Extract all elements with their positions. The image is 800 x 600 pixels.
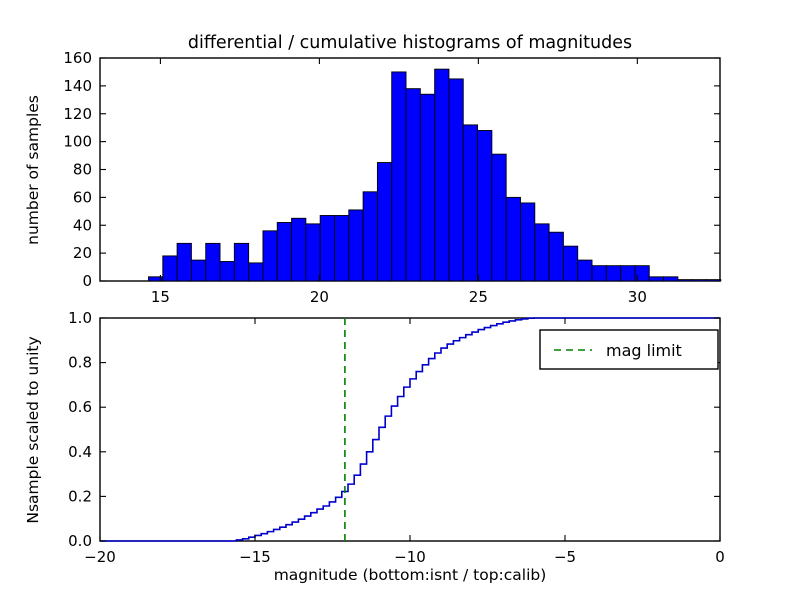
- histogram-bar: [492, 154, 506, 281]
- bottom-panel-y-axis-label: Nsample scaled to unity: [24, 336, 42, 523]
- top-panel-y-axis-label: number of samples: [24, 95, 42, 245]
- x-axis-label: magnitude (bottom:isnt / top:calib): [274, 566, 547, 584]
- histogram-bar: [664, 277, 678, 281]
- figure-canvas: differential / cumulative histograms of …: [0, 0, 800, 600]
- histogram-bar: [349, 210, 363, 281]
- tick-label: 0: [715, 548, 725, 566]
- tick-label: 60: [73, 188, 92, 206]
- tick-label: −10: [394, 548, 426, 566]
- histogram-bar: [435, 69, 449, 281]
- tick-label: 20: [310, 288, 329, 306]
- tick-label: 80: [73, 161, 92, 179]
- tick-label: 140: [63, 77, 92, 95]
- matplotlib-figure: differential / cumulative histograms of …: [0, 0, 800, 600]
- tick-label: −5: [554, 548, 576, 566]
- tick-label: 30: [628, 288, 647, 306]
- tick-label: −20: [84, 548, 116, 566]
- tick-label: 20: [73, 244, 92, 262]
- tick-label: 15: [151, 288, 170, 306]
- histogram-bar: [306, 224, 320, 281]
- histogram-bar: [263, 231, 277, 281]
- histogram-bar: [449, 79, 463, 281]
- histogram-bar: [392, 72, 406, 281]
- histogram-bar: [334, 215, 348, 281]
- histogram-bar: [234, 243, 248, 281]
- histogram-bar: [549, 232, 563, 281]
- histogram-bar: [463, 125, 477, 281]
- histogram-bar: [377, 163, 391, 281]
- tick-label: 160: [63, 49, 92, 67]
- legend-label-mag-limit: mag limit: [606, 341, 682, 360]
- tick-label: 0: [82, 272, 92, 290]
- histogram-bar: [678, 280, 692, 281]
- legend[interactable]: mag limit: [540, 330, 718, 369]
- histogram-bar: [649, 277, 663, 281]
- tick-label: 40: [73, 216, 92, 234]
- histogram-bar: [292, 218, 306, 281]
- histogram-bar: [535, 224, 549, 281]
- histogram-bar: [506, 197, 520, 281]
- histogram-bar: [249, 263, 263, 281]
- tick-label: 0.6: [68, 398, 92, 416]
- histogram-bar: [277, 222, 291, 281]
- histogram-bar: [420, 94, 434, 281]
- histogram-bar: [191, 260, 205, 281]
- histogram-bar: [692, 280, 706, 281]
- histogram-bar: [520, 203, 534, 281]
- histogram-bar: [320, 215, 334, 281]
- histogram-bar: [406, 89, 420, 281]
- tick-label: 100: [63, 133, 92, 151]
- histogram-bar: [606, 266, 620, 281]
- histogram-bar: [363, 192, 377, 281]
- histogram-bar: [621, 266, 635, 281]
- histogram-bar: [478, 130, 492, 281]
- histogram-bar: [592, 266, 606, 281]
- tick-label: 25: [469, 288, 488, 306]
- tick-label: 120: [63, 105, 92, 123]
- tick-label: 1.0: [68, 309, 92, 327]
- histogram-bar: [163, 256, 177, 281]
- tick-label: 0.8: [68, 354, 92, 372]
- tick-label: 0.4: [68, 443, 92, 461]
- histogram-bar: [206, 243, 220, 281]
- tick-label: 0.2: [68, 487, 92, 505]
- figure-title: differential / cumulative histograms of …: [188, 33, 632, 53]
- histogram-bar: [578, 260, 592, 281]
- histogram-bar: [563, 246, 577, 281]
- tick-label: −15: [239, 548, 271, 566]
- histogram-bar: [177, 243, 191, 281]
- histogram-bar: [220, 261, 234, 281]
